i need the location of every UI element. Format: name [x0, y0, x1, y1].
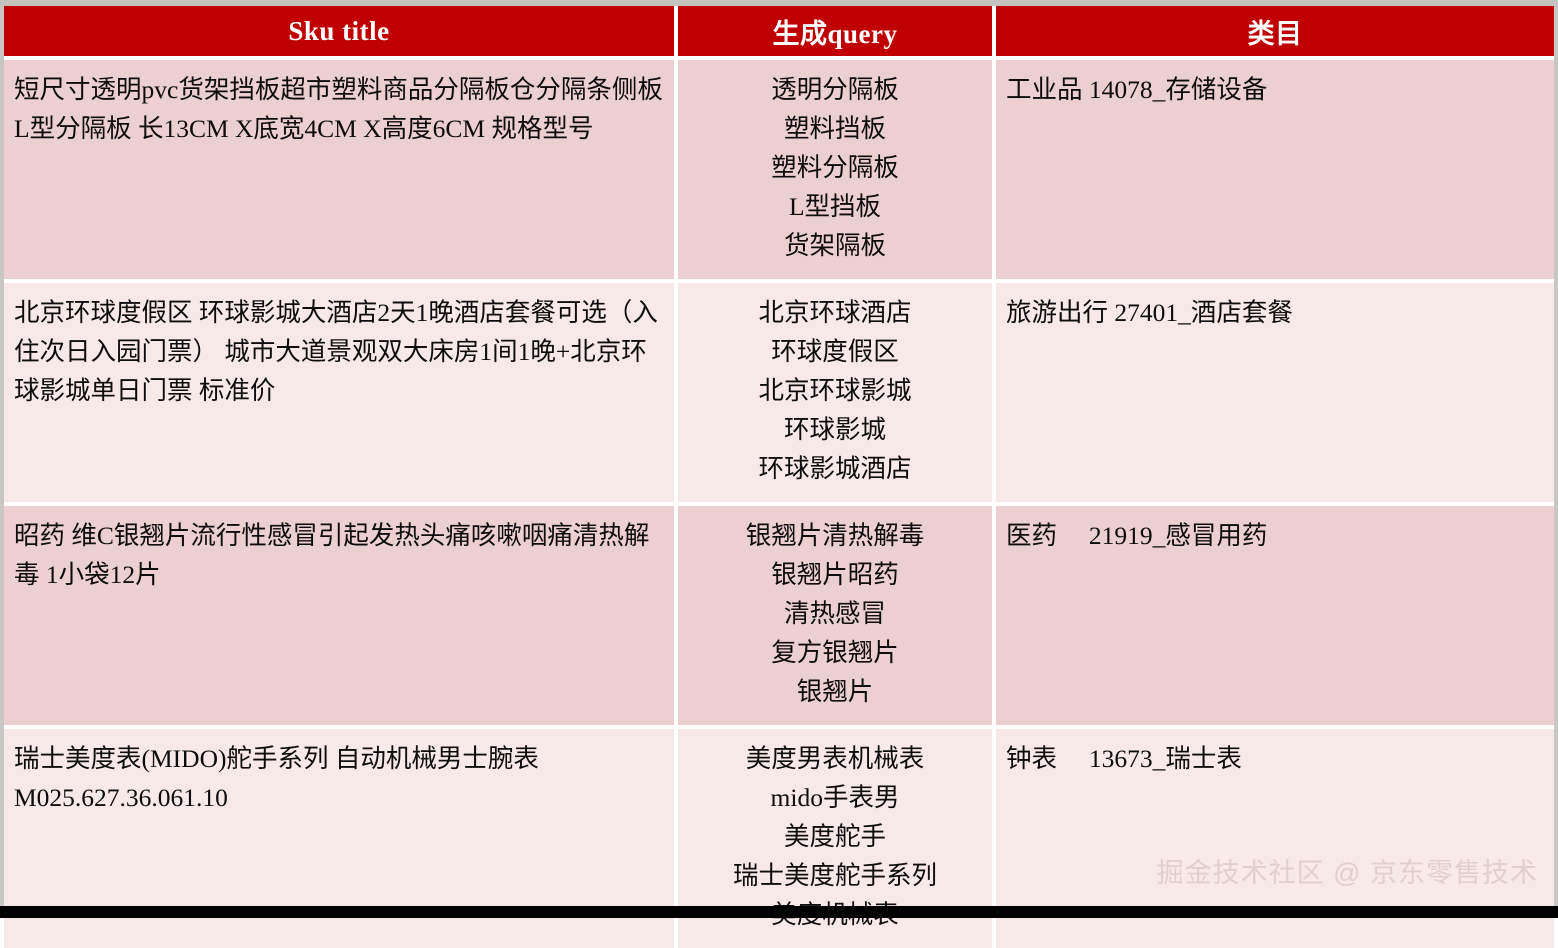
slide-canvas: Sku title 生成query 类目 短尺寸透明pvc货架挡板超市塑料商品分…	[0, 0, 1558, 918]
cell-sku-title: 短尺寸透明pvc货架挡板超市塑料商品分隔板仓分隔条侧板L型分隔板 长13CM X…	[4, 60, 678, 283]
query-line: L型挡板	[688, 187, 982, 226]
query-line: 货架隔板	[688, 226, 982, 265]
column-header-generated-query: 生成query	[678, 6, 996, 60]
query-line: 美度舵手	[688, 817, 982, 856]
table-row: 短尺寸透明pvc货架挡板超市塑料商品分隔板仓分隔条侧板L型分隔板 长13CM X…	[4, 60, 1554, 283]
query-line: 银翘片	[688, 672, 982, 711]
query-line: 美度男表机械表	[688, 739, 982, 778]
table-header-row: Sku title 生成query 类目	[4, 6, 1554, 60]
cell-category: 工业品 14078_存储设备	[996, 60, 1554, 283]
column-header-sku-title: Sku title	[4, 6, 678, 60]
query-line: 环球度假区	[688, 332, 982, 371]
query-line: 银翘片昭药	[688, 555, 982, 594]
query-line: 透明分隔板	[688, 70, 982, 109]
query-line: 塑料分隔板	[688, 148, 982, 187]
query-line: 银翘片清热解毒	[688, 516, 982, 555]
query-line: 环球影城酒店	[688, 449, 982, 488]
sku-query-category-table: Sku title 生成query 类目 短尺寸透明pvc货架挡板超市塑料商品分…	[4, 6, 1554, 948]
bottom-border-strip	[0, 906, 1558, 918]
query-line: 北京环球影城	[688, 371, 982, 410]
query-line: 环球影城	[688, 410, 982, 449]
cell-category: 医药 21919_感冒用药	[996, 506, 1554, 729]
query-line: 复方银翘片	[688, 633, 982, 672]
table-row: 北京环球度假区 环球影城大酒店2天1晚酒店套餐可选（入住次日入园门票） 城市大道…	[4, 283, 1554, 506]
query-line: mido手表男	[688, 778, 982, 817]
query-line: 清热感冒	[688, 594, 982, 633]
cell-sku-title: 昭药 维C银翘片流行性感冒引起发热头痛咳嗽咽痛清热解毒 1小袋12片	[4, 506, 678, 729]
table-row: 昭药 维C银翘片流行性感冒引起发热头痛咳嗽咽痛清热解毒 1小袋12片 银翘片清热…	[4, 506, 1554, 729]
cell-generated-query: 透明分隔板 塑料挡板 塑料分隔板 L型挡板 货架隔板	[678, 60, 996, 283]
cell-category: 旅游出行 27401_酒店套餐	[996, 283, 1554, 506]
query-line: 瑞士美度舵手系列	[688, 856, 982, 895]
query-line: 北京环球酒店	[688, 293, 982, 332]
column-header-category: 类目	[996, 6, 1554, 60]
query-line: 塑料挡板	[688, 109, 982, 148]
cell-generated-query: 银翘片清热解毒 银翘片昭药 清热感冒 复方银翘片 银翘片	[678, 506, 996, 729]
cell-sku-title: 北京环球度假区 环球影城大酒店2天1晚酒店套餐可选（入住次日入园门票） 城市大道…	[4, 283, 678, 506]
cell-generated-query: 北京环球酒店 环球度假区 北京环球影城 环球影城 环球影城酒店	[678, 283, 996, 506]
